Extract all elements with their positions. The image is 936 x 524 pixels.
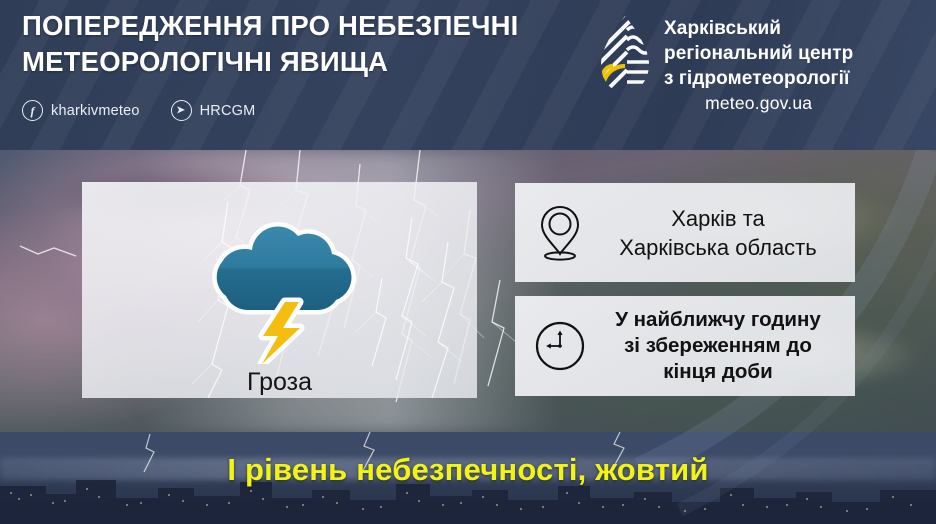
- title-line-1: ПОПЕРЕДЖЕННЯ ПРО НЕБЕЗПЕЧНІ: [22, 8, 622, 44]
- danger-level-banner: І рівень небезпечності, жовтий: [0, 452, 936, 488]
- telegram-handle: HRCGM: [200, 103, 256, 119]
- logo-line-2: регіональний центр: [664, 41, 853, 66]
- location-line-1: Харків та: [599, 204, 837, 233]
- logo-line-1: Харківський: [664, 16, 853, 41]
- clock-icon-wrap: [529, 319, 591, 373]
- location-info-card: Харків та Харківська область: [515, 183, 855, 282]
- location-text: Харків та Харківська область: [599, 204, 841, 262]
- thunderstorm-cloud-lightning-icon: [190, 206, 370, 364]
- telegram-icon: ➤: [171, 100, 192, 121]
- clock-icon: [533, 319, 587, 373]
- logo-website-url[interactable]: meteo.gov.ua: [664, 91, 853, 115]
- facebook-icon: f: [22, 100, 43, 121]
- header-bar: ПОПЕРЕДЖЕННЯ ПРО НЕБЕЗПЕЧНІ МЕТЕОРОЛОГІЧ…: [0, 0, 936, 150]
- water-droplet-logo-icon: [597, 14, 653, 96]
- social-telegram[interactable]: ➤ HRCGM: [171, 100, 256, 121]
- social-links: f kharkivmeteo ➤ HRCGM: [22, 100, 255, 121]
- location-icon-wrap: [529, 204, 591, 262]
- page-title: ПОПЕРЕДЖЕННЯ ПРО НЕБЕЗПЕЧНІ МЕТЕОРОЛОГІЧ…: [22, 8, 622, 80]
- map-pin-icon: [537, 204, 583, 262]
- thunderstorm-label: Гроза: [247, 368, 312, 397]
- time-line-3: кінця доби: [599, 359, 837, 385]
- time-info-card: У найближчу годину зі збереженням до кін…: [515, 296, 855, 396]
- facebook-handle: kharkivmeteo: [51, 103, 140, 119]
- social-facebook[interactable]: f kharkivmeteo: [22, 100, 140, 121]
- time-line-1: У найближчу годину: [599, 307, 837, 333]
- location-line-2: Харківська область: [599, 233, 837, 262]
- logo-line-3: з гідрометеорології: [664, 66, 853, 91]
- organization-logo[interactable]: Харківський регіональний центр з гідроме…: [597, 14, 853, 115]
- time-line-2: зі збереженням до: [599, 333, 837, 359]
- thunderstorm-content: Гроза: [82, 182, 477, 398]
- thunderstorm-card: Гроза: [82, 182, 477, 398]
- time-text: У найближчу годину зі збереженням до кін…: [599, 307, 841, 385]
- logo-text: Харківський регіональний центр з гідроме…: [664, 14, 853, 115]
- weather-warning-poster: ПОПЕРЕДЖЕННЯ ПРО НЕБЕЗПЕЧНІ МЕТЕОРОЛОГІЧ…: [0, 0, 936, 524]
- title-line-2: МЕТЕОРОЛОГІЧНІ ЯВИЩА: [22, 44, 622, 80]
